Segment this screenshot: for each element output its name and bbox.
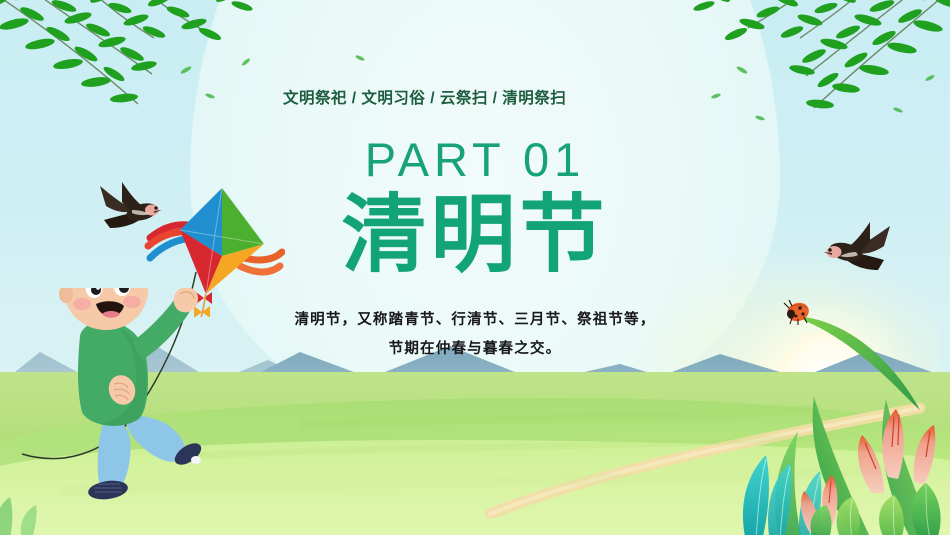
qingming-festival-slide: 文明祭祀 / 文明习俗 / 云祭扫 / 清明祭扫 PART 01 清明节 清明节… [0, 0, 950, 535]
swallow-bird-right [812, 222, 902, 288]
foreground-foliage-right [736, 351, 950, 535]
foreground-foliage-left [0, 479, 82, 535]
